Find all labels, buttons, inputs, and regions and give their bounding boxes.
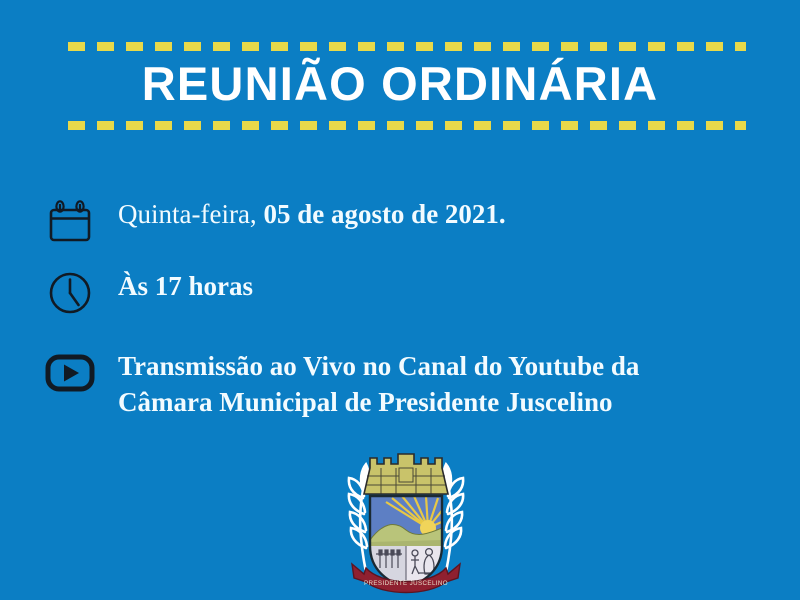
clock-icon <box>44 268 96 316</box>
dashed-rule-top <box>68 42 746 51</box>
youtube-play-icon <box>44 348 96 392</box>
poster-canvas: REUNIÃO ORDINÁRIA Quinta-feira, 05 de ag… <box>0 0 800 600</box>
coat-of-arms-emblem: PRESIDENTE JUSCELINO <box>336 446 476 598</box>
detail-row-time: Às 17 horas <box>44 268 253 316</box>
detail-row-date: Quinta-feira, 05 de agosto de 2021. <box>44 196 506 244</box>
detail-row-broadcast: Transmissão ao Vivo no Canal do Youtube … <box>44 348 639 420</box>
date-value: 05 de agosto de 2021. <box>263 199 505 229</box>
dashed-rule-bottom <box>68 121 746 130</box>
calendar-icon <box>44 196 96 244</box>
emblem-ribbon-text: PRESIDENTE JUSCELINO <box>364 580 448 587</box>
date-text: Quinta-feira, 05 de agosto de 2021. <box>118 196 506 232</box>
page-title: REUNIÃO ORDINÁRIA <box>0 55 800 113</box>
date-weekday: Quinta-feira, <box>118 199 263 229</box>
broadcast-text: Transmissão ao Vivo no Canal do Youtube … <box>118 348 639 420</box>
time-text: Às 17 horas <box>118 268 253 304</box>
